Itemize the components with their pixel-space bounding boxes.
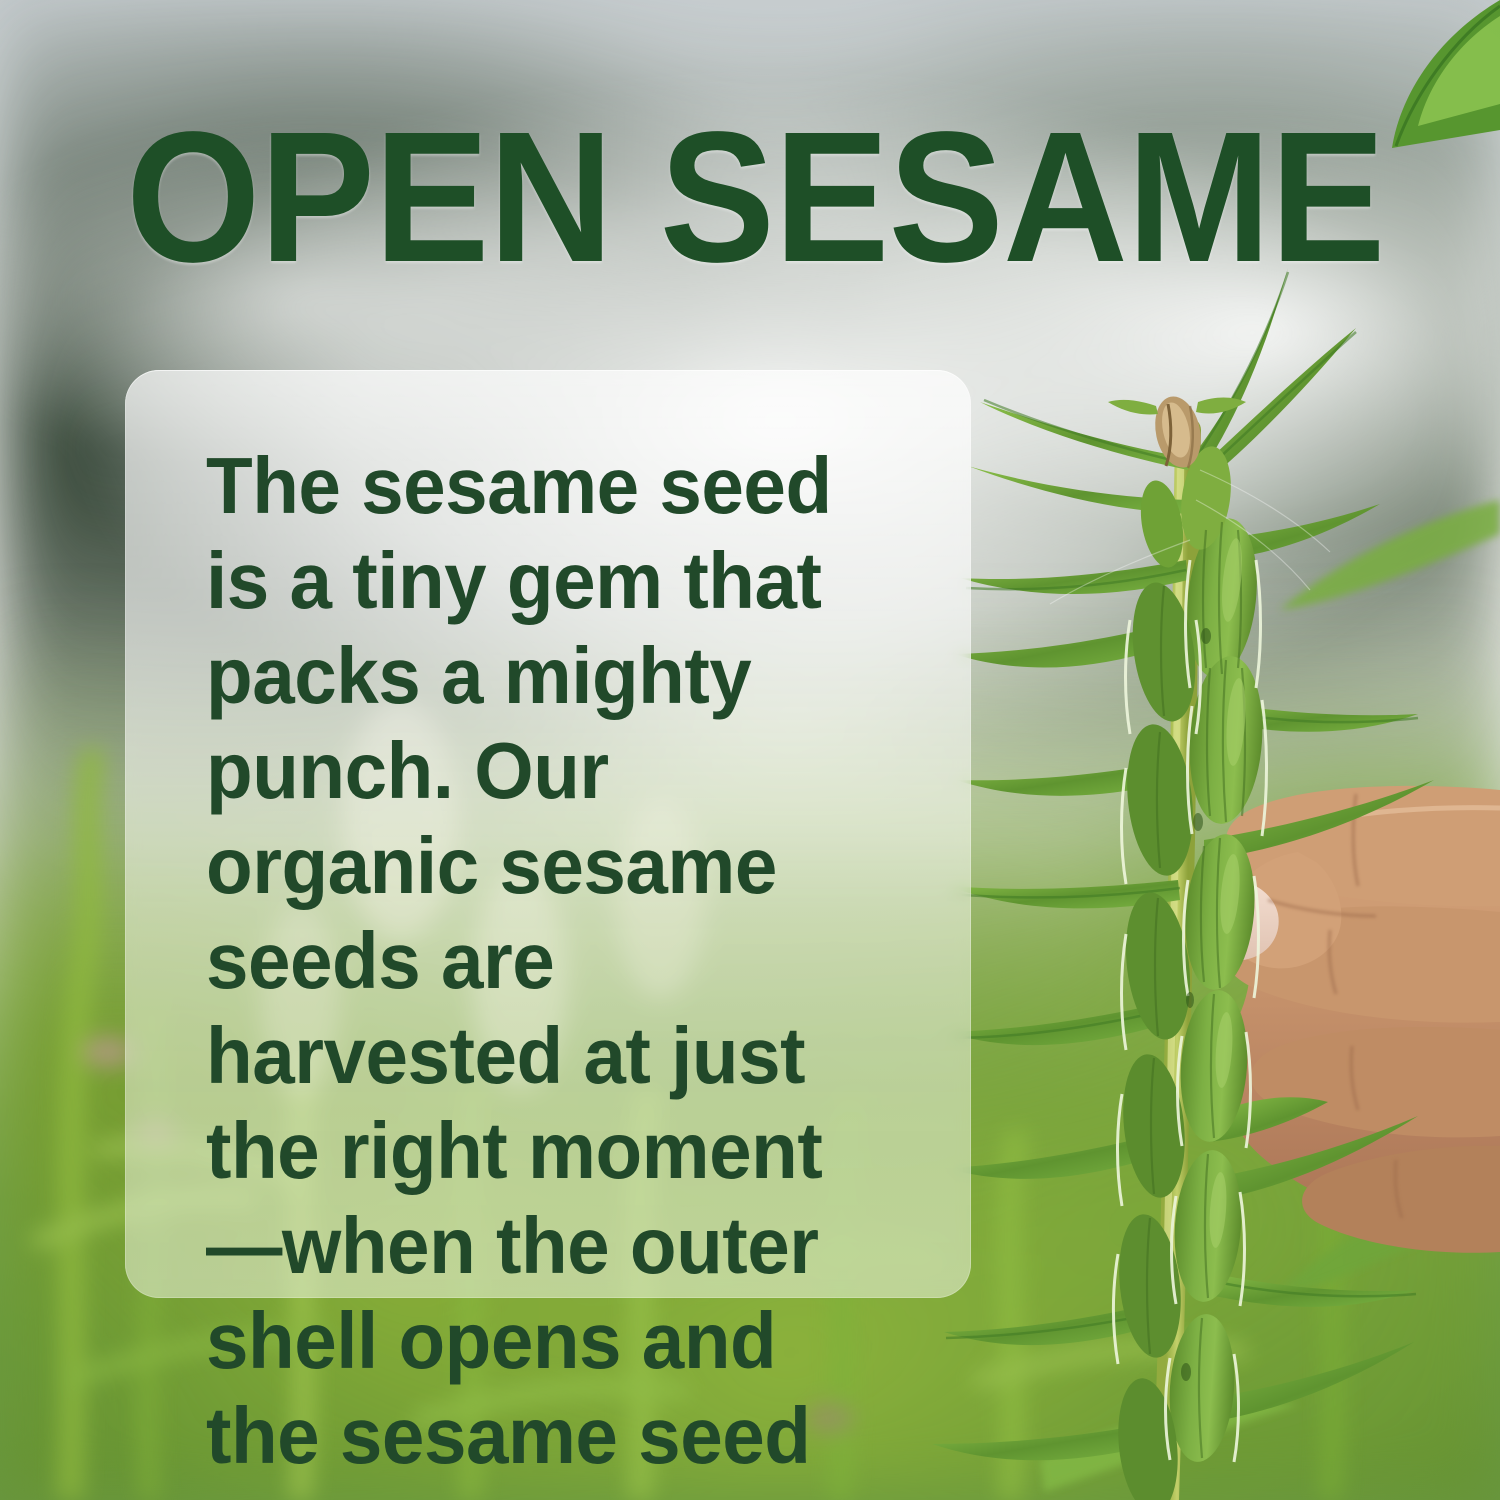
marketing-graphic: OPEN SESAME The sesame seed is a tiny ge… xyxy=(0,0,1500,1500)
page-title: OPEN SESAME xyxy=(126,112,1279,283)
description-paragraph: The sesame seed is a tiny gem that packs… xyxy=(206,438,875,1500)
